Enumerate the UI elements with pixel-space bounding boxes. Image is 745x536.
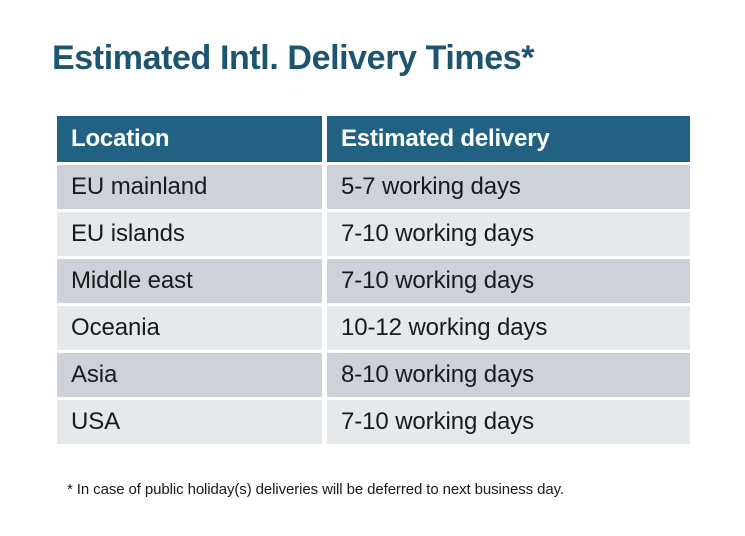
table-row: Middle east 7-10 working days	[57, 259, 690, 303]
table-header-row: Location Estimated delivery	[57, 116, 690, 162]
table-row: EU mainland 5-7 working days	[57, 165, 690, 209]
page-title: Estimated Intl. Delivery Times*	[52, 36, 534, 80]
cell-delivery: 7-10 working days	[327, 400, 690, 444]
cell-location: USA	[57, 400, 322, 444]
cell-location: Oceania	[57, 306, 322, 350]
delivery-times-page: Estimated Intl. Delivery Times* Location…	[0, 0, 745, 536]
table-body: EU mainland 5-7 working days EU islands …	[57, 165, 690, 444]
delivery-times-table: Location Estimated delivery EU mainland …	[52, 113, 695, 447]
cell-delivery: 8-10 working days	[327, 353, 690, 397]
column-header-location: Location	[57, 116, 322, 162]
cell-delivery: 7-10 working days	[327, 212, 690, 256]
table-row: EU islands 7-10 working days	[57, 212, 690, 256]
cell-delivery: 5-7 working days	[327, 165, 690, 209]
table-row: USA 7-10 working days	[57, 400, 690, 444]
column-header-estimated-delivery: Estimated delivery	[327, 116, 690, 162]
cell-location: Asia	[57, 353, 322, 397]
cell-delivery: 7-10 working days	[327, 259, 690, 303]
table-row: Oceania 10-12 working days	[57, 306, 690, 350]
cell-delivery: 10-12 working days	[327, 306, 690, 350]
cell-location: EU mainland	[57, 165, 322, 209]
cell-location: Middle east	[57, 259, 322, 303]
cell-location: EU islands	[57, 212, 322, 256]
table-row: Asia 8-10 working days	[57, 353, 690, 397]
footnote: * In case of public holiday(s) deliverie…	[67, 481, 564, 498]
table-header: Location Estimated delivery	[57, 116, 690, 162]
